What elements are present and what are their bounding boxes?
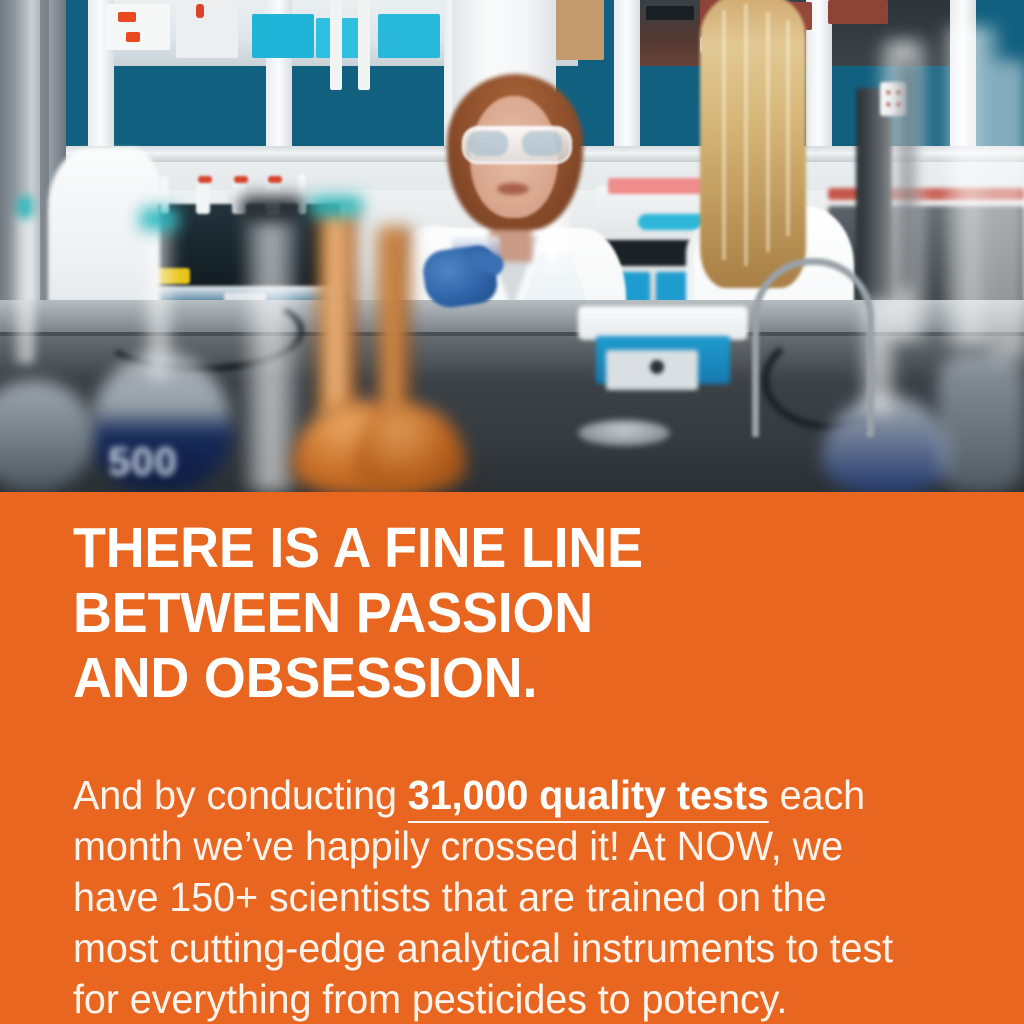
cabinet-contents [252, 14, 314, 58]
sample-vial [196, 180, 210, 214]
glass-column-dark-core [900, 60, 914, 290]
body-paragraph: And by conducting 31,000 quality tests e… [73, 770, 903, 1024]
cabinet-contents [828, 0, 888, 24]
page-title: THERE IS A FINE LINE BETWEEN PASSION AND… [73, 516, 905, 711]
sample-vial [198, 176, 212, 183]
amber-flask-cap [310, 196, 362, 216]
foreground-flask-stopper [140, 208, 178, 230]
flask-volume-label: 500 [108, 440, 200, 484]
cabinet-contents [196, 4, 204, 18]
quality-tests-highlight: 31,000 quality tests [408, 772, 769, 823]
cylinder-cap [240, 196, 304, 222]
cabinet-contents [378, 14, 440, 58]
headline-line-3: AND OBSESSION. [73, 646, 905, 711]
pipette-stand [14, 214, 34, 364]
pipette-tip [18, 196, 32, 218]
foreground-glass-right-edge [938, 352, 1024, 492]
social-graphic-canvas: 500 TH [0, 0, 1024, 1024]
blonde-scientist-hair [700, 0, 806, 288]
sample-vial [268, 176, 282, 183]
balance-knob [650, 360, 664, 374]
cabinet-contents [330, 0, 342, 90]
foreground-graduated-cylinder [246, 212, 298, 492]
goggle-lens [522, 131, 562, 156]
foreground-glass-column [988, 60, 1024, 360]
cabinet-divider [614, 0, 640, 150]
body-text-before: And by conducting [73, 772, 408, 818]
orange-message-panel: THERE IS A FINE LINE BETWEEN PASSION AND… [0, 492, 1024, 1024]
goggle-lens [468, 131, 508, 156]
photo-scene: 500 [0, 0, 1024, 492]
hair-highlight [766, 12, 770, 252]
cabinet-contents [106, 4, 170, 50]
hair-highlight [722, 10, 726, 260]
hair-highlight [744, 4, 748, 266]
foreground-amber-flask-2-neck [378, 226, 410, 422]
watch-glass [578, 420, 670, 446]
flexible-hose [752, 258, 874, 437]
cabinet-contents [118, 12, 136, 22]
analytical-balance [578, 306, 748, 340]
headline-line-1: THERE IS A FINE LINE [73, 516, 905, 581]
amber-flask-neck-highlight [332, 214, 340, 404]
hair-highlight [786, 20, 790, 236]
cabinet-contents [646, 6, 694, 20]
cabinet-contents [126, 32, 140, 42]
laboratory-photo: 500 [0, 0, 1024, 492]
scientist-mouth [497, 183, 529, 195]
headline-line-2: BETWEEN PASSION [73, 581, 905, 646]
cabinet-contents [556, 0, 604, 60]
cabinet-contents [176, 0, 238, 58]
cabinet-contents [358, 0, 370, 90]
sample-vial [234, 176, 248, 183]
instrument-top-pink-panel [608, 178, 704, 194]
